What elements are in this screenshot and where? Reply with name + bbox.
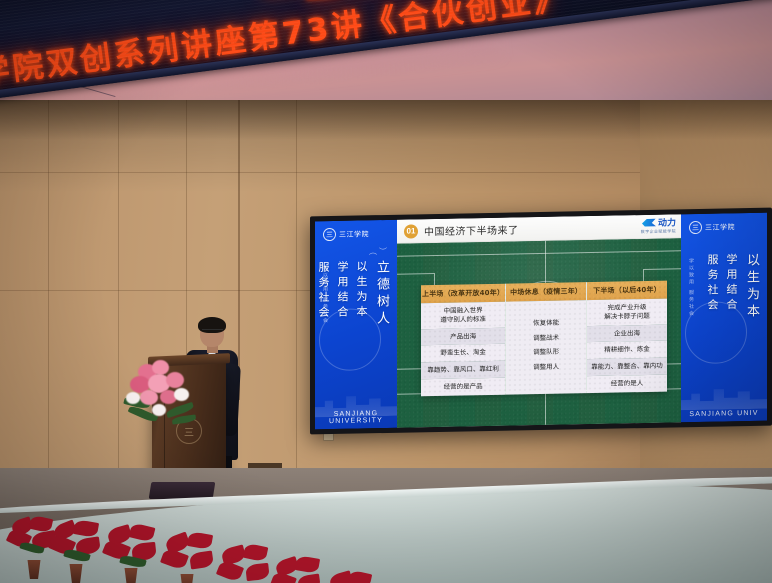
- list-item: [48, 519, 104, 583]
- university-logo-left: 三 三江学院: [323, 227, 369, 241]
- table-cell: 野蛮生长、淘金: [421, 344, 505, 362]
- motto-left-col-4: 服务社会: [315, 261, 331, 403]
- screen-left-panel: 三 三江学院 学以致用 服务社会 ︵︶ 立德树人 以生为本 学用结合 服务社会 …: [315, 220, 397, 430]
- flower-pot: [179, 574, 196, 583]
- university-english-right: SANJIANG UNIV: [681, 410, 767, 419]
- table-cell: 调整队形: [506, 347, 586, 357]
- table-column-3: 下半场（以后40年） 完成产业升级 解决卡脖子问题 企业出海 精耕细作、炼金 靠…: [586, 281, 667, 393]
- table-cell: 企业出海: [587, 324, 667, 342]
- university-name-right: 三江学院: [705, 222, 735, 233]
- table-cell: 经营的是人: [587, 374, 667, 392]
- flower-pot: [123, 568, 140, 583]
- glasses-icon: [202, 329, 223, 334]
- wall-corner: [238, 100, 240, 400]
- table-cell: 完成产业升级 解决卡脖子问题: [587, 299, 667, 326]
- table-cell: 靠能力、靠整合、靠内功: [587, 358, 667, 376]
- university-seal-icon: 三: [689, 221, 702, 234]
- flower-pot: [68, 564, 85, 583]
- flower-pot: [26, 560, 43, 579]
- list-item: [102, 521, 160, 583]
- table-cell: 经营的是产品: [421, 378, 505, 396]
- university-seal-icon: 三: [323, 228, 336, 241]
- motto-right-col-3: 服务社会: [704, 254, 720, 396]
- university-name-left: 三江学院: [339, 229, 369, 240]
- table-cell: 靠趋势、靠风口、靠红利: [421, 361, 505, 379]
- table-cell: 精耕细作、炼金: [587, 341, 667, 359]
- motto-left-col-1: 立德树人: [372, 260, 391, 402]
- table-cell: 恢复体能: [506, 318, 586, 328]
- list-item: [158, 527, 216, 583]
- column-header-2: 中场休息（疫情三年）: [506, 282, 586, 302]
- list-item: [372, 563, 424, 583]
- slide-content: 01 中国经济下半场来了 动力 数字企业赋能学院: [397, 214, 681, 427]
- table-cell: 中国融入世界 遵守别人的标准: [421, 302, 505, 329]
- comparison-table: 上半场（改革开放40年） 中国融入世界 遵守别人的标准 产品出海 野蛮生长、淘金…: [421, 281, 667, 396]
- podium-flowers: [122, 358, 202, 430]
- motto-left-col-2: 以生为本: [353, 260, 369, 402]
- swoosh-icon: [642, 218, 656, 226]
- motto-left: 立德树人 以生为本 学用结合 服务社会: [321, 260, 391, 403]
- brand-logo: 动力 数字企业赋能学院: [641, 215, 676, 235]
- column-header-3: 下半场（以后40年）: [587, 281, 667, 301]
- motto-right: 以生为本 学用结合 服务社会: [687, 253, 761, 396]
- table-column-1: 上半场（改革开放40年） 中国融入世界 遵守别人的标准 产品出海 野蛮生长、淘金…: [421, 284, 505, 396]
- table-column-2: 中场休息（疫情三年） 恢复体能 调整战术 调整队形 调整用人: [505, 282, 586, 394]
- motto-right-col-1: 以生为本: [742, 253, 761, 395]
- motto-left-col-3: 学用结合: [334, 261, 350, 403]
- list-item: [214, 535, 272, 583]
- screen-right-panel: 三 三江学院 学以致用 服务社会 以生为本 学用结合 服务社会 SANJIANG…: [681, 213, 767, 423]
- table-cell: 产品出海: [421, 327, 505, 345]
- list-item: [322, 553, 376, 583]
- table-cell: 调整战术: [506, 333, 586, 343]
- presentation-screen[interactable]: 三 三江学院 学以致用 服务社会 ︵︶ 立德树人 以生为本 学用结合 服务社会 …: [310, 208, 772, 435]
- football-pitch-background: 上半场（改革开放40年） 中国融入世界 遵守别人的标准 产品出海 野蛮生长、淘金…: [397, 238, 681, 427]
- table-cell: 调整用人: [506, 362, 586, 372]
- column-header-1: 上半场（改革开放40年）: [421, 284, 505, 304]
- list-item: [268, 543, 324, 583]
- brand-subtitle: 数字企业赋能学院: [641, 228, 676, 235]
- slide-title: 中国经济下半场来了: [424, 221, 519, 238]
- birds-icon: ︵︶: [369, 246, 389, 257]
- brand-name: 动力: [658, 215, 676, 228]
- university-english-left: SANJIANG UNIVERSITY: [315, 410, 397, 426]
- list-item: [420, 573, 470, 583]
- wall-shadow: [0, 100, 772, 140]
- slide-number-badge: 01: [404, 224, 418, 238]
- lecture-hall-photo: —主讲嘉宾：郜铖 学院双创系列讲座第73讲《合伙创业》 三 三江学院 学以致用 …: [0, 0, 772, 583]
- university-logo-right: 三 三江学院: [689, 220, 735, 234]
- motto-right-col-2: 学用结合: [723, 253, 739, 395]
